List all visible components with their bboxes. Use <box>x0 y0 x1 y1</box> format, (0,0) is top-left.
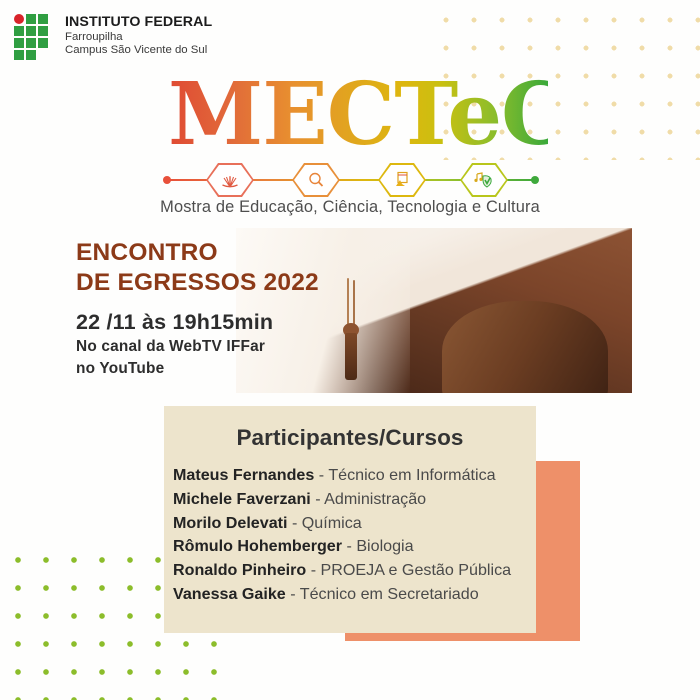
institution-logo: INSTITUTO FEDERAL Farroupilha Campus São… <box>14 14 212 58</box>
participant-course: - Técnico em Secretariado <box>286 585 479 603</box>
list-item: Rômulo Hohemberger - Biologia <box>173 535 533 559</box>
event-channel-line2: no YouTube <box>76 358 265 380</box>
participant-name: Mateus Fernandes <box>173 466 314 484</box>
music-mask-icon-glyph <box>473 171 495 189</box>
magnifier-icon-glyph <box>306 171 326 189</box>
list-item: Vanessa Gaike - Técnico em Secretariado <box>173 583 533 607</box>
participants-list: Mateus Fernandes - Técnico em Informátic… <box>173 464 533 607</box>
participant-course: - PROEJA e Gestão Pública <box>306 561 511 579</box>
institution-name: INSTITUTO FEDERAL <box>65 15 212 31</box>
mectec-wordmark: MECTeC <box>168 72 548 158</box>
brand-icon-rail <box>166 163 536 197</box>
event-channel-line1: No canal da WebTV IFFar <box>76 336 265 358</box>
computer-icon-glyph <box>392 171 412 189</box>
computer-icon <box>378 163 426 197</box>
institution-logo-text: INSTITUTO FEDERAL Farroupilha Campus São… <box>65 15 212 56</box>
event-title-line2: DE EGRESSOS 2022 <box>76 268 319 298</box>
participants-panel-title: Participantes/Cursos <box>164 425 536 451</box>
rail-endpoint-left <box>163 176 171 184</box>
rail-endpoint-right <box>531 176 539 184</box>
open-book-icon <box>206 163 254 197</box>
participant-name: Vanessa Gaike <box>173 585 286 603</box>
participant-name: Rômulo Hohemberger <box>173 537 342 555</box>
magnifier-icon <box>292 163 340 197</box>
brand-tagline: Mostra de Educação, Ciência, Tecnologia … <box>0 198 700 217</box>
open-book-icon-glyph <box>220 172 240 188</box>
music-mask-icon <box>460 163 508 197</box>
event-title-line1: ENCONTRO <box>76 238 319 268</box>
list-item: Michele Faverzani - Administração <box>173 488 533 512</box>
participant-course: - Técnico em Informática <box>314 466 495 484</box>
list-item: Ronaldo Pinheiro - PROEJA e Gestão Públi… <box>173 559 533 583</box>
cap-tassel <box>343 278 359 380</box>
event-title: ENCONTRO DE EGRESSOS 2022 <box>76 238 319 298</box>
institution-campus-line1: Farroupilha <box>65 31 212 44</box>
poster-canvas: INSTITUTO FEDERAL Farroupilha Campus São… <box>0 0 700 700</box>
mectec-wordmark-text: MECTeC <box>168 72 548 158</box>
event-datetime: 22 /11 às 19h15min <box>76 310 273 335</box>
participant-name: Michele Faverzani <box>173 490 311 508</box>
list-item: Mateus Fernandes - Técnico em Informátic… <box>173 464 533 488</box>
participant-course: - Administração <box>311 490 426 508</box>
participant-course: - Química <box>287 514 361 532</box>
participant-name: Ronaldo Pinheiro <box>173 561 306 579</box>
institution-campus-line2: Campus São Vicente do Sul <box>65 44 212 57</box>
list-item: Morilo Delevati - Química <box>173 512 533 536</box>
event-channel: No canal da WebTV IFFar no YouTube <box>76 336 265 380</box>
participant-name: Morilo Delevati <box>173 514 287 532</box>
participant-course: - Biologia <box>342 537 414 555</box>
cap-crown <box>442 301 608 393</box>
iff-logo-icon <box>14 14 56 58</box>
